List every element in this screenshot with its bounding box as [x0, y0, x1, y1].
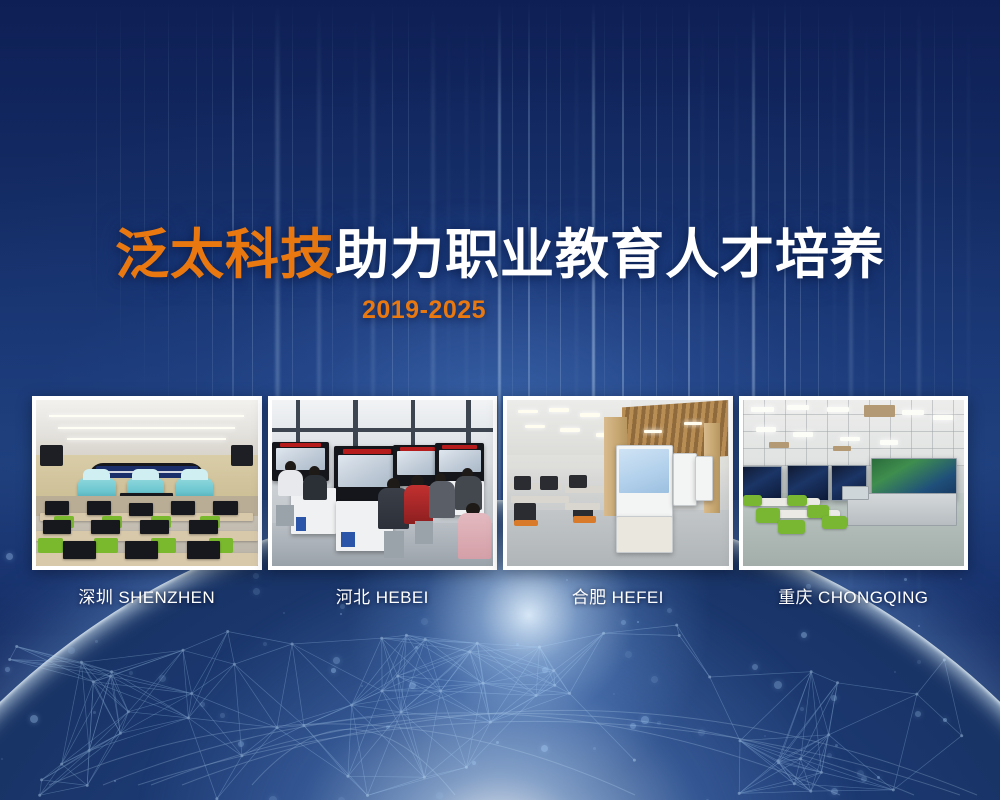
title-block: 泛太科技助力职业教育人才培养 2019-2025 — [0, 226, 1000, 325]
page-title: 泛太科技助力职业教育人才培养 — [0, 226, 1000, 284]
gallery-card[interactable] — [503, 396, 733, 570]
photo-hefei-showroom — [507, 400, 729, 566]
photo-shenzhen-classroom — [36, 400, 258, 566]
gallery-card[interactable] — [739, 396, 969, 570]
gallery-card[interactable] — [32, 396, 262, 570]
horizon-glow — [120, 540, 880, 800]
promo-banner: 泛太科技助力职业教育人才培养 2019-2025 — [0, 0, 1000, 800]
caption-chongqing: 重庆 CHONGQING — [739, 583, 969, 611]
year-range-label: 2019-2025 — [0, 296, 1000, 325]
gallery-card[interactable] — [268, 396, 498, 570]
caption-shenzhen: 深圳 SHENZHEN — [32, 583, 262, 611]
title-brand: 泛太科技 — [115, 225, 335, 285]
caption-hefei: 合肥 HEFEI — [503, 583, 733, 611]
photo-chongqing-lab — [743, 400, 965, 566]
photo-hebei-training-lab — [272, 400, 494, 566]
photo-captions: 深圳 SHENZHEN 河北 HEBEI 合肥 HEFEI 重庆 CHONGQI… — [32, 583, 968, 611]
photo-gallery — [32, 396, 968, 570]
title-rest: 助力职业教育人才培养 — [335, 225, 885, 285]
caption-hebei: 河北 HEBEI — [268, 583, 498, 611]
